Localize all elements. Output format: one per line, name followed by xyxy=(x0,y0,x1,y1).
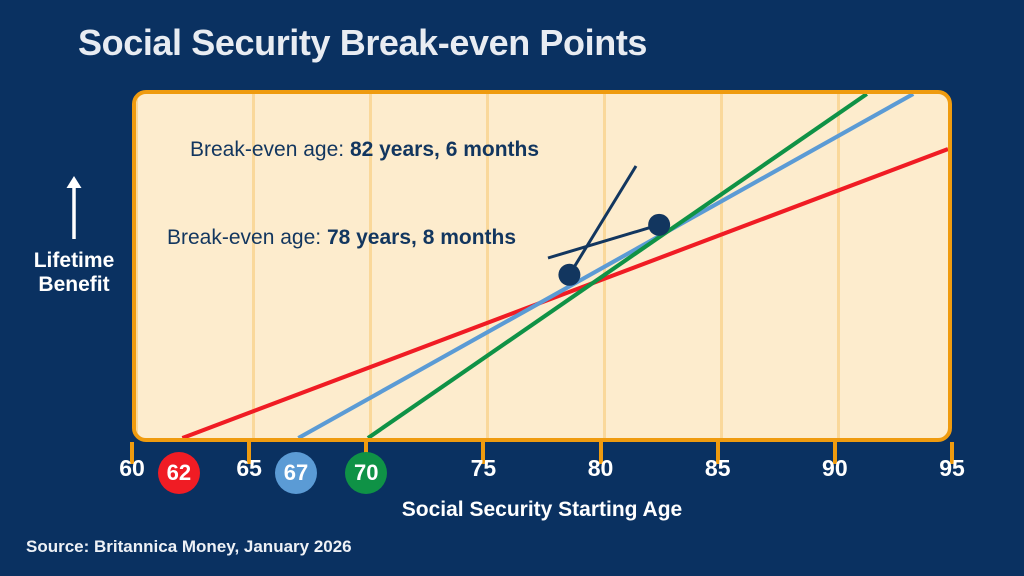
y-axis-label-block: Lifetime Benefit xyxy=(18,175,130,296)
tick-label-60: 60 xyxy=(119,455,145,482)
y-axis-title-line-2: Benefit xyxy=(18,273,130,297)
age-badge-62[interactable]: 62 xyxy=(158,452,200,494)
page-title: Social Security Break-even Points xyxy=(78,22,647,64)
breakeven-annotation-82-lead: Break-even age: xyxy=(190,138,350,161)
breakeven-annotation-82: Break-even age: 82 years, 6 months xyxy=(190,138,539,162)
tick-label-80: 80 xyxy=(588,455,614,482)
y-axis-title-line-1: Lifetime xyxy=(18,249,130,273)
age-badge-67[interactable]: 67 xyxy=(275,452,317,494)
x-axis-title: Social Security Starting Age xyxy=(402,498,682,522)
y-axis-title: Lifetime Benefit xyxy=(18,249,130,296)
tick-label-85: 85 xyxy=(705,455,731,482)
tick-label-95: 95 xyxy=(939,455,965,482)
breakeven-annotation-78-value: 78 years, 8 months xyxy=(327,226,516,249)
age-badge-70[interactable]: 70 xyxy=(345,452,387,494)
line-claim-at-62 xyxy=(182,149,948,438)
breakeven-annotation-78-lead: Break-even age: xyxy=(167,226,327,249)
breakeven-annotation-82-value: 82 years, 6 months xyxy=(350,138,539,161)
source-note: Source: Britannica Money, January 2026 xyxy=(26,537,352,557)
infographic-canvas: Social Security Break-even Points 606575… xyxy=(0,0,1024,576)
tick-label-65: 65 xyxy=(236,455,262,482)
breakeven-annotation-78: Break-even age: 78 years, 8 months xyxy=(167,226,516,250)
up-arrow-icon xyxy=(64,175,84,241)
tick-label-90: 90 xyxy=(822,455,848,482)
tick-label-75: 75 xyxy=(471,455,497,482)
